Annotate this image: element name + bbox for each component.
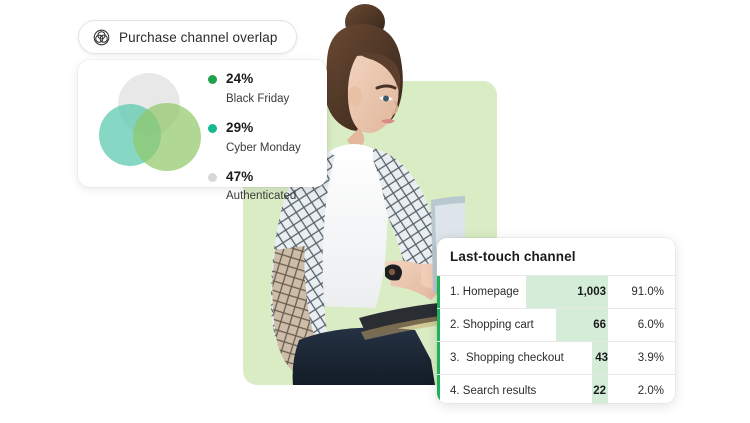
row-value: 1,003 <box>560 286 612 298</box>
purchase-channel-overlap-card: 24% Black Friday 29% Cyber Monday 47% Au… <box>78 60 327 187</box>
venn-overlap-icon <box>93 29 110 46</box>
row-percent: 2.0% <box>612 385 675 397</box>
row-value: 22 <box>560 385 612 397</box>
table-row[interactable]: 4. Search results 22 2.0% <box>437 374 675 403</box>
legend-item[interactable]: 47% Authenticated <box>208 168 301 206</box>
legend-label: Authenticated <box>226 190 296 202</box>
row-value: 43 <box>564 352 614 364</box>
legend-dot-cyber-monday <box>208 124 217 133</box>
legend-dot-black-friday <box>208 75 217 84</box>
table-row[interactable]: 3. Shopping checkout 43 3.9% <box>437 341 675 374</box>
venn-legend: 24% Black Friday 29% Cyber Monday 47% Au… <box>208 70 301 205</box>
last-touch-channel-card: Last-touch channel 1. Homepage 1,003 91.… <box>437 238 675 403</box>
legend-percent: 47% <box>226 169 253 184</box>
composition-stage: Purchase channel overlap 24% Black Frida… <box>0 0 750 423</box>
table-row[interactable]: 1. Homepage 1,003 91.0% <box>437 275 675 308</box>
row-percent: 3.9% <box>614 352 675 364</box>
row-value: 66 <box>560 319 612 331</box>
row-label: 2. Shopping cart <box>437 319 560 331</box>
legend-percent: 29% <box>226 120 253 135</box>
row-label: 3. Shopping checkout <box>437 352 564 364</box>
row-label: 4. Search results <box>437 385 560 397</box>
legend-label: Black Friday <box>226 93 289 105</box>
legend-item[interactable]: 29% Cyber Monday <box>208 119 301 157</box>
table-title: Last-touch channel <box>437 238 675 275</box>
venn-diagram <box>88 64 210 184</box>
legend-item[interactable]: 24% Black Friday <box>208 70 301 108</box>
venn-circle-black-friday <box>133 103 201 171</box>
legend-percent: 24% <box>226 71 253 86</box>
table-body: 1. Homepage 1,003 91.0% 2. Shopping cart… <box>437 275 675 403</box>
purchase-channel-overlap-pill[interactable]: Purchase channel overlap <box>78 20 297 54</box>
row-percent: 91.0% <box>612 286 675 298</box>
table-row[interactable]: 2. Shopping cart 66 6.0% <box>437 308 675 341</box>
pill-label: Purchase channel overlap <box>119 30 278 45</box>
legend-label: Cyber Monday <box>226 142 301 154</box>
row-label: 1. Homepage <box>437 286 560 298</box>
legend-dot-authenticated <box>208 173 217 182</box>
row-percent: 6.0% <box>612 319 675 331</box>
